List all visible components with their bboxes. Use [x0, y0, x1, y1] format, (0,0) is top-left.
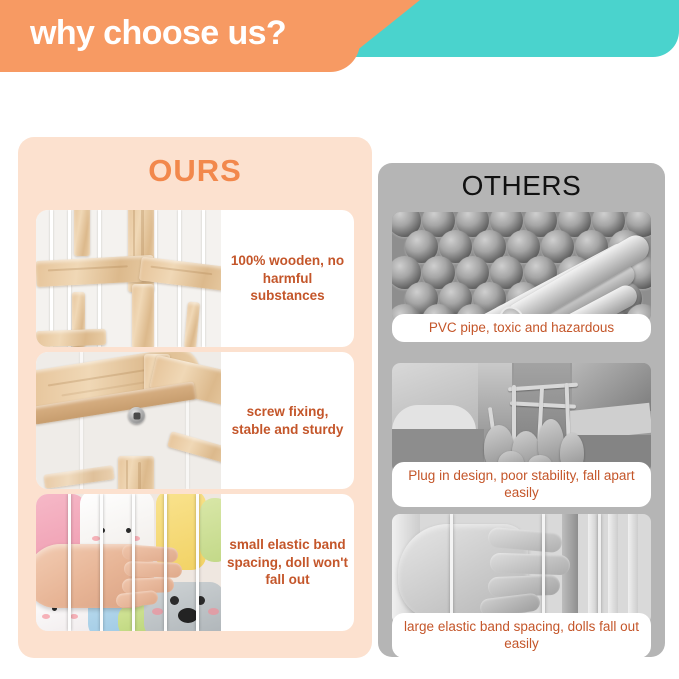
ours-row-wooden: 100% wooden, no harmful substances: [36, 210, 354, 347]
others-panel: OTHERS: [378, 163, 665, 657]
page-title: why choose us?: [30, 14, 286, 53]
others-caption-2: Plug in design, poor stability, fall apa…: [392, 462, 651, 507]
ours-caption-1: 100% wooden, no harmful substances: [221, 210, 354, 347]
ours-heading: OURS: [18, 137, 372, 205]
plush-green: [200, 498, 221, 562]
ours-caption-3: small elastic band spacing, doll won't f…: [221, 494, 354, 631]
wooden-frame-photo: [36, 210, 221, 347]
ours-panel: OURS: [18, 137, 372, 658]
others-row-pvc: PVC pipe, toxic and hazardous: [392, 212, 651, 356]
page-header: why choose us?: [0, 0, 679, 72]
others-caption-3: large elastic band spacing, dolls fall o…: [392, 613, 651, 658]
wide-gap-hand-photo: [392, 514, 651, 624]
ours-row-plush: small elastic band spacing, doll won't f…: [36, 494, 354, 631]
others-row-wide-gap: large elastic band spacing, dolls fall o…: [392, 514, 651, 658]
others-caption-1: PVC pipe, toxic and hazardous: [392, 314, 651, 342]
ours-caption-2: screw fixing, stable and sturdy: [221, 352, 354, 489]
others-row-collapsed-rack: Plug in design, poor stability, fall apa…: [392, 363, 651, 507]
pvc-pipes-photo: [392, 212, 651, 322]
screw-joint-photo: [36, 352, 221, 489]
ours-row-screw: screw fixing, stable and sturdy: [36, 352, 354, 489]
others-heading: OTHERS: [378, 163, 665, 209]
collapsed-rack-photo: [392, 363, 651, 473]
plush-toys-elastic-photo: [36, 494, 221, 631]
